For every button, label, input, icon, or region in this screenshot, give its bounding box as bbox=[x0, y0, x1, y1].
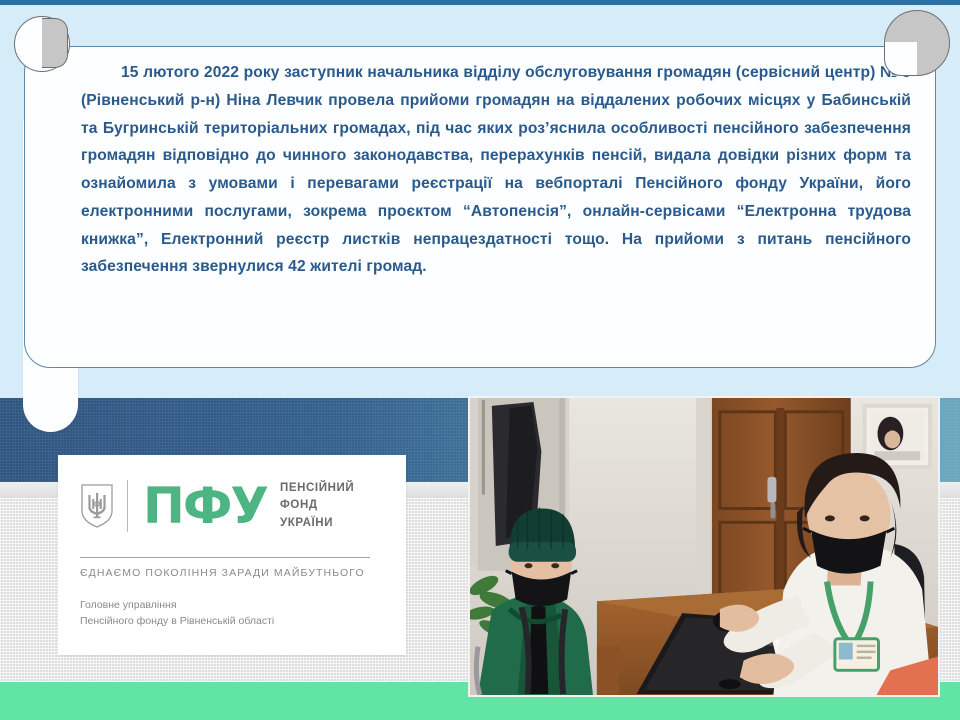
scroll-decoration-right-notch-icon bbox=[884, 42, 917, 76]
scroll-decoration-left-fill-icon bbox=[42, 18, 68, 68]
pfu-logo-card: ПФУ ПЕНСІЙНИЙ ФОНД УКРАЇНИ ЄДНАЄМО ПОКОЛ… bbox=[58, 455, 406, 655]
callout-body-text: 15 лютого 2022 року заступник начальника… bbox=[81, 59, 911, 281]
department-line-1: Головне управління bbox=[80, 597, 384, 613]
pfu-name-line-1: ПЕНСІЙНИЙ bbox=[280, 480, 354, 497]
pfu-slogan: ЄДНАЄМО ПОКОЛІННЯ ЗАРАДИ МАЙБУТНЬОГО bbox=[80, 567, 384, 579]
pfu-full-name: ПЕНСІЙНИЙ ФОНД УКРАЇНИ bbox=[280, 480, 354, 532]
pfu-name-line-2: ФОНД bbox=[280, 497, 354, 514]
photo-illustration bbox=[470, 398, 938, 695]
pfu-department: Головне управління Пенсійного фонду в Рі… bbox=[80, 597, 384, 630]
top-rule-divider bbox=[0, 0, 960, 5]
pfu-logo-row: ПФУ ПЕНСІЙНИЙ ФОНД УКРАЇНИ bbox=[80, 473, 384, 539]
pfu-wordmark: ПФУ bbox=[143, 483, 267, 529]
logo-divider bbox=[127, 480, 128, 532]
logo-horizontal-rule bbox=[80, 557, 370, 558]
event-photograph bbox=[468, 396, 940, 697]
text-callout-box: 15 лютого 2022 року заступник начальника… bbox=[24, 46, 936, 368]
slide-canvas: 15 лютого 2022 року заступник начальника… bbox=[0, 0, 960, 720]
department-line-2: Пенсійного фонду в Рівненській області bbox=[80, 613, 384, 629]
ukraine-coat-of-arms-icon bbox=[80, 483, 114, 529]
pfu-name-line-3: УКРАЇНИ bbox=[280, 515, 354, 532]
